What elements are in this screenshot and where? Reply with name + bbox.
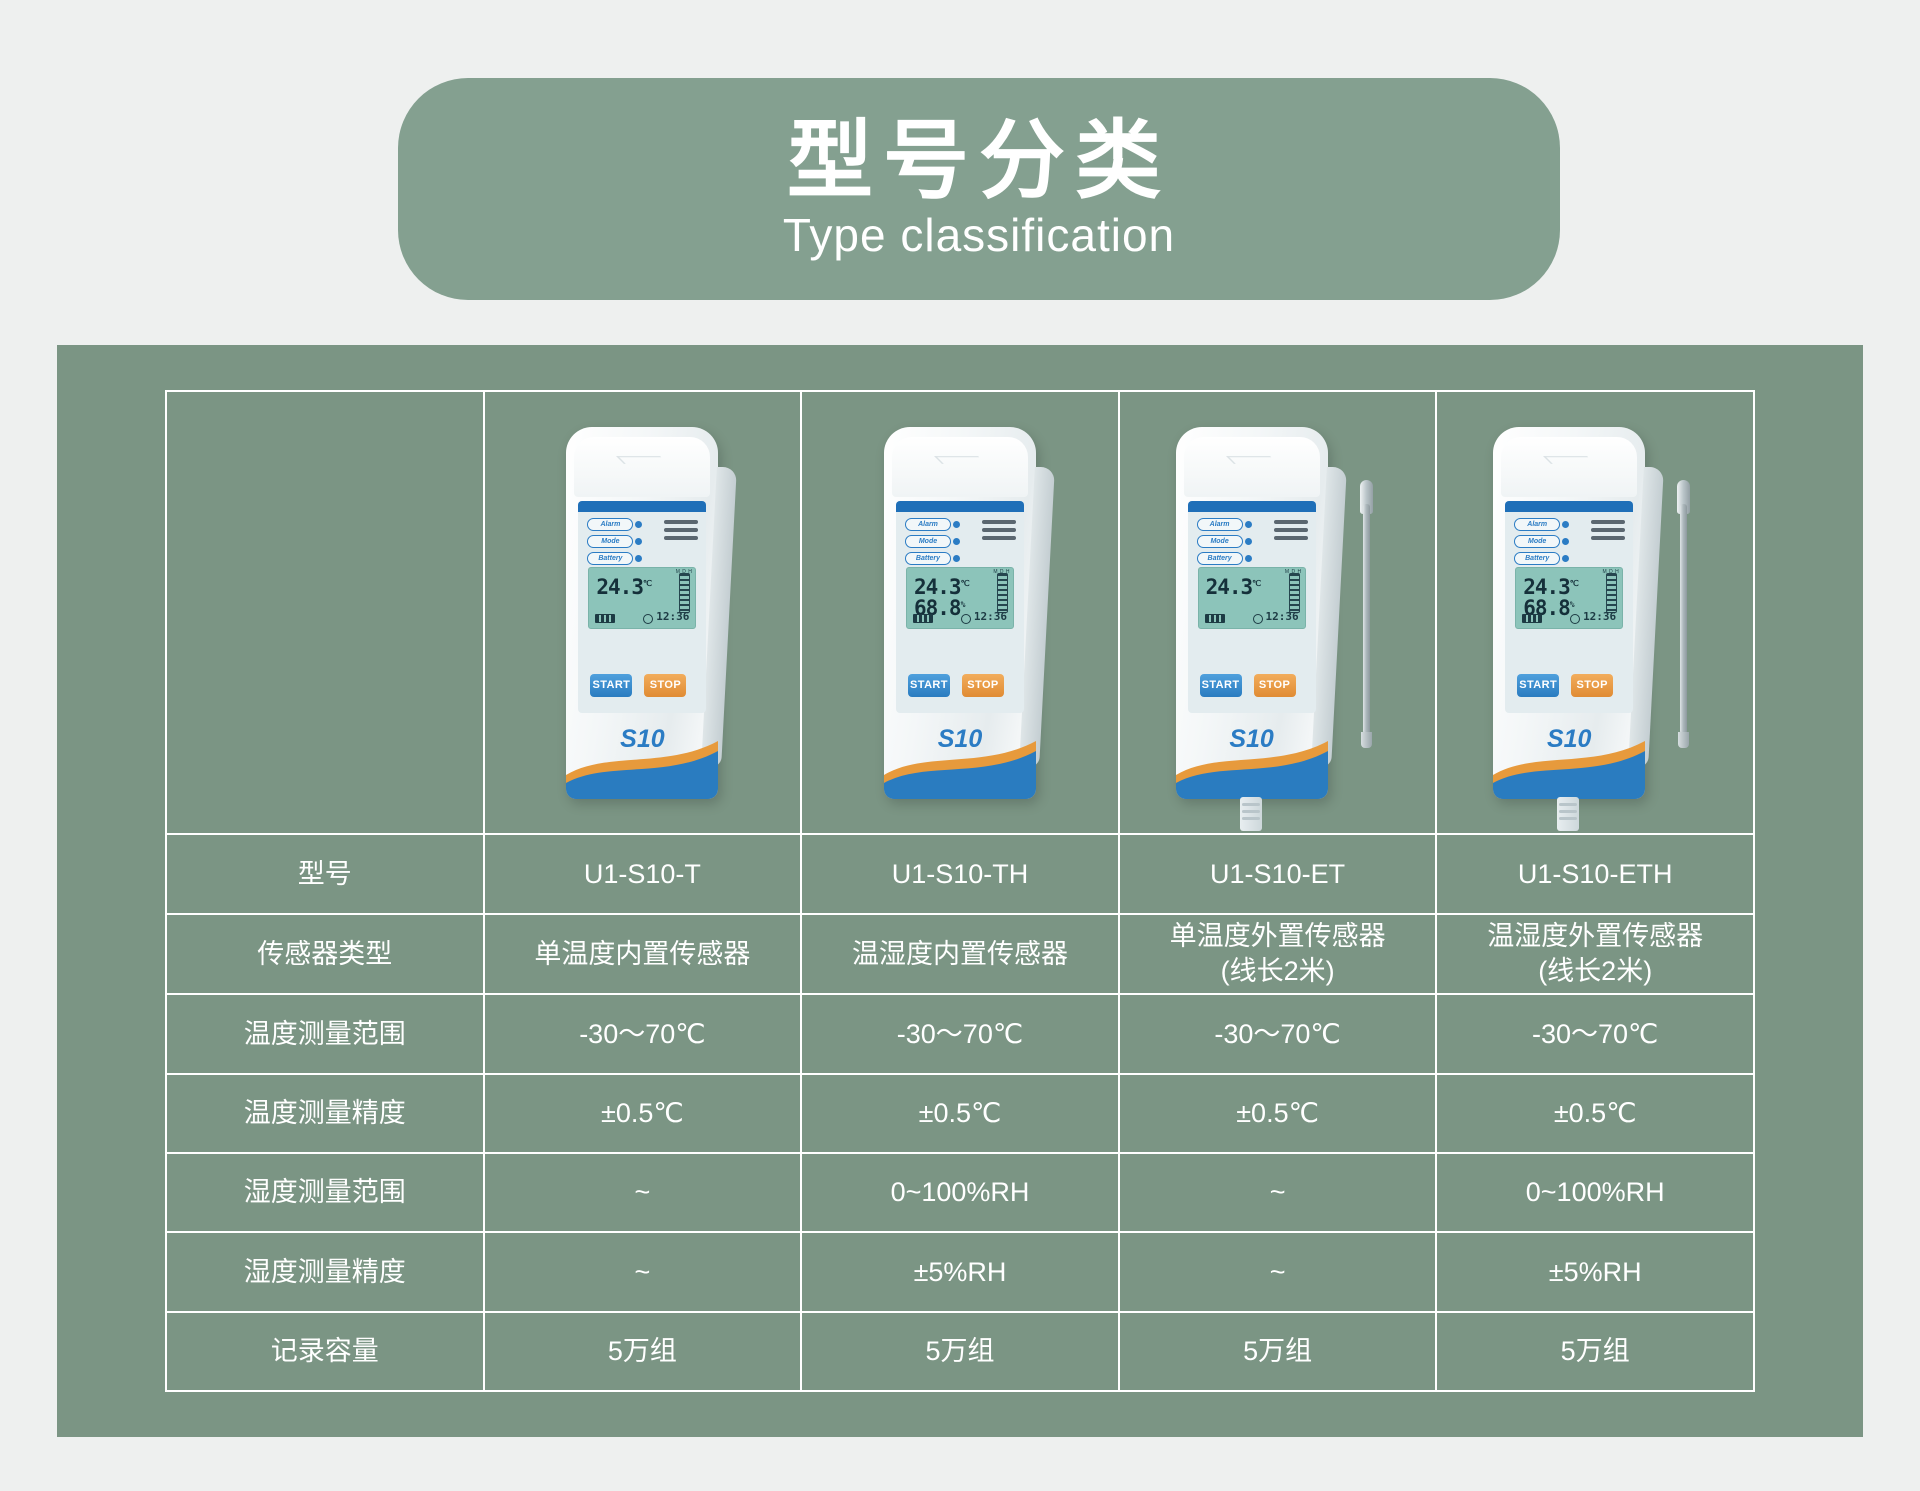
lcd-clock-value: 12:36 xyxy=(1583,610,1616,624)
external-temperature-probe xyxy=(1671,478,1697,748)
indicator-mode: Mode xyxy=(1514,535,1560,548)
probe-stem xyxy=(1680,504,1687,734)
lcd-clock-value: 12:36 xyxy=(1265,610,1298,624)
lcd-temperature-reading: 24.3℃ xyxy=(1206,574,1261,601)
page-root: 型号分类 Type classification xyxy=(0,0,1920,1491)
cell-hum-accuracy-0: ~ xyxy=(484,1232,802,1311)
lcd-temp-unit: ℃ xyxy=(1570,579,1578,588)
device-button-row: START STOP xyxy=(1517,674,1613,697)
cell-capacity-1: 5万组 xyxy=(801,1312,1119,1391)
cell-temp-accuracy-1: ±0.5℃ xyxy=(801,1074,1119,1153)
connector-plug xyxy=(1240,797,1262,831)
start-button[interactable]: START xyxy=(590,674,632,697)
speaker-vent-icon xyxy=(1274,520,1308,544)
probe-foot xyxy=(1678,732,1689,748)
device-cell-3: Alarm Mode Battery xyxy=(1436,391,1754,834)
header-banner: 型号分类 Type classification xyxy=(398,78,1560,300)
lcd-clock-value: 12:36 xyxy=(656,610,689,624)
indicator-mode: Mode xyxy=(1197,535,1243,548)
device-bottom-wave xyxy=(1493,723,1645,799)
indicator-label-battery: Battery xyxy=(1197,552,1243,565)
battery-led-icon xyxy=(1245,555,1252,562)
device-bottom-wave xyxy=(884,723,1036,799)
device-illustration-0: Alarm Mode Battery xyxy=(485,392,801,833)
lcd-temp-value: 24.3 xyxy=(596,575,643,599)
cell-temp-accuracy-0: ±0.5℃ xyxy=(484,1074,802,1153)
corner-cell xyxy=(166,391,484,834)
indicator-alarm: Alarm xyxy=(905,518,951,531)
cell-temp-accuracy-3: ±0.5℃ xyxy=(1436,1074,1754,1153)
clock-icon xyxy=(961,614,971,624)
connector-plug xyxy=(1557,797,1579,831)
device-illustration-3: Alarm Mode Battery xyxy=(1437,392,1753,833)
cell-capacity-0: 5万组 xyxy=(484,1312,802,1391)
start-button[interactable]: START xyxy=(908,674,950,697)
device-top-cap xyxy=(1501,437,1637,497)
lcd-temp-unit: ℃ xyxy=(1252,579,1260,588)
device-cell-2: Alarm Mode Battery xyxy=(1119,391,1437,834)
datalogger-device: Alarm Mode Battery xyxy=(884,427,1036,799)
device-face-panel: Alarm Mode Battery xyxy=(896,501,1024,713)
lcd-battery-icon xyxy=(595,614,615,623)
indicator-mode: Mode xyxy=(587,535,633,548)
indicator-label-alarm: Alarm xyxy=(905,518,951,531)
indicator-pill-group: Alarm Mode Battery xyxy=(905,518,951,569)
cell-capacity-2: 5万组 xyxy=(1119,1312,1437,1391)
device-bottom-wave xyxy=(1176,723,1328,799)
indicator-label-alarm: Alarm xyxy=(1197,518,1243,531)
lcd-display: M D H 24.3℃ 68.8% 12:36 xyxy=(906,567,1014,629)
cell-sensor-type-3: 温湿度外置传感器(线长2米) xyxy=(1436,914,1754,994)
indicator-alarm: Alarm xyxy=(1197,518,1243,531)
speaker-vent-icon xyxy=(982,520,1016,544)
cell-hum-range-0: ~ xyxy=(484,1153,802,1232)
stop-button[interactable]: STOP xyxy=(644,674,686,697)
device-face-header-strip xyxy=(896,501,1024,512)
indicator-label-battery: Battery xyxy=(587,552,633,565)
device-illustration-2: Alarm Mode Battery xyxy=(1120,392,1436,833)
indicator-label-mode: Mode xyxy=(1197,535,1243,548)
speaker-vent-icon xyxy=(1591,520,1625,544)
mode-led-icon xyxy=(635,538,642,545)
table-row-capacity: 记录容量 5万组 5万组 5万组 5万组 xyxy=(166,1312,1754,1391)
probe-stem xyxy=(1363,504,1370,734)
table-row-model: 型号 U1-S10-T U1-S10-TH U1-S10-ET U1-S10-E… xyxy=(166,834,1754,913)
cell-hum-range-3: 0~100%RH xyxy=(1436,1153,1754,1232)
indicator-alarm: Alarm xyxy=(1514,518,1560,531)
mode-led-icon xyxy=(1562,538,1569,545)
table-row-temp-range: 温度测量范围 -30～70℃ -30～70℃ -30～70℃ -30～70℃ xyxy=(166,994,1754,1073)
indicator-battery: Battery xyxy=(1514,552,1560,565)
indicator-mode: Mode xyxy=(905,535,951,548)
lcd-temp-unit: ℃ xyxy=(961,579,969,588)
device-button-row: START STOP xyxy=(1200,674,1296,697)
alarm-led-icon xyxy=(1562,521,1569,528)
cell-temp-range-1: -30～70℃ xyxy=(801,994,1119,1073)
indicator-label-battery: Battery xyxy=(1514,552,1560,565)
clock-icon xyxy=(1570,614,1580,624)
table-row-hum-accuracy: 湿度测量精度 ~ ±5%RH ~ ±5%RH xyxy=(166,1232,1754,1311)
lcd-temp-value: 24.3 xyxy=(1206,575,1253,599)
chevron-up-icon xyxy=(1543,456,1595,464)
clock-icon xyxy=(643,614,653,624)
cell-hum-accuracy-3: ±5%RH xyxy=(1436,1232,1754,1311)
chevron-up-icon xyxy=(617,456,669,464)
device-bottom-wave xyxy=(566,723,718,799)
probe-cable-connector xyxy=(1240,797,1262,845)
device-button-row: START STOP xyxy=(590,674,686,697)
indicator-label-mode: Mode xyxy=(1514,535,1560,548)
stop-button[interactable]: STOP xyxy=(1571,674,1613,697)
chevron-up-icon xyxy=(934,456,986,464)
indicator-pill-group: Alarm Mode Battery xyxy=(1197,518,1243,569)
device-cell-0: Alarm Mode Battery xyxy=(484,391,802,834)
alarm-led-icon xyxy=(953,521,960,528)
probe-cable-connector xyxy=(1557,797,1579,845)
cell-model-2: U1-S10-ET xyxy=(1119,834,1437,913)
table-row-device-images: Alarm Mode Battery xyxy=(166,391,1754,834)
cell-hum-range-2: ~ xyxy=(1119,1153,1437,1232)
row-label-sensor-type: 传感器类型 xyxy=(166,914,484,994)
table-row-hum-range: 湿度测量范围 ~ 0~100%RH ~ 0~100%RH xyxy=(166,1153,1754,1232)
indicator-battery: Battery xyxy=(1197,552,1243,565)
battery-led-icon xyxy=(1562,555,1569,562)
device-button-row: START STOP xyxy=(908,674,1004,697)
indicator-pill-group: Alarm Mode Battery xyxy=(587,518,633,569)
datalogger-device: Alarm Mode Battery xyxy=(1176,427,1328,799)
cell-hum-accuracy-1: ±5%RH xyxy=(801,1232,1119,1311)
indicator-label-alarm: Alarm xyxy=(587,518,633,531)
indicator-label-alarm: Alarm xyxy=(1514,518,1560,531)
lcd-level-bar-icon xyxy=(1606,573,1617,613)
device-face-header-strip xyxy=(1188,501,1316,512)
cell-temp-range-2: -30～70℃ xyxy=(1119,994,1437,1073)
speaker-vent-icon xyxy=(664,520,698,544)
device-cell-1: Alarm Mode Battery xyxy=(801,391,1119,834)
indicator-pill-group: Alarm Mode Battery xyxy=(1514,518,1560,569)
row-label-capacity: 记录容量 xyxy=(166,1312,484,1391)
indicator-alarm: Alarm xyxy=(587,518,633,531)
row-label-model: 型号 xyxy=(166,834,484,913)
lcd-clock-value: 12:36 xyxy=(974,610,1007,624)
lcd-battery-icon xyxy=(1522,614,1542,623)
cell-model-0: U1-S10-T xyxy=(484,834,802,913)
device-top-cap xyxy=(1184,437,1320,497)
spec-panel: Alarm Mode Battery xyxy=(57,345,1863,1437)
lcd-level-bar-icon xyxy=(1289,573,1300,613)
row-label-temp-range: 温度测量范围 xyxy=(166,994,484,1073)
device-illustration-1: Alarm Mode Battery xyxy=(802,392,1118,833)
lcd-display: M D H 24.3℃ 12:36 xyxy=(1198,567,1306,629)
cell-model-3: U1-S10-ETH xyxy=(1436,834,1754,913)
stop-button[interactable]: STOP xyxy=(962,674,1004,697)
device-face-header-strip xyxy=(578,501,706,512)
start-button[interactable]: START xyxy=(1517,674,1559,697)
cell-hum-accuracy-2: ~ xyxy=(1119,1232,1437,1311)
mode-led-icon xyxy=(953,538,960,545)
lcd-display: M D H 24.3℃ 68.8% 12:36 xyxy=(1515,567,1623,629)
indicator-battery: Battery xyxy=(905,552,951,565)
cell-model-1: U1-S10-TH xyxy=(801,834,1119,913)
lcd-temperature-reading: 24.3℃ xyxy=(596,574,651,601)
device-face-panel: Alarm Mode Battery xyxy=(1505,501,1633,713)
device-face-panel: Alarm Mode Battery xyxy=(1188,501,1316,713)
battery-led-icon xyxy=(953,555,960,562)
cell-temp-accuracy-2: ±0.5℃ xyxy=(1119,1074,1437,1153)
mode-led-icon xyxy=(1245,538,1252,545)
device-top-cap xyxy=(892,437,1028,497)
cell-temp-range-3: -30～70℃ xyxy=(1436,994,1754,1073)
cell-sensor-type-2: 单温度外置传感器(线长2米) xyxy=(1119,914,1437,994)
lcd-battery-icon xyxy=(913,614,933,623)
cell-hum-range-1: 0~100%RH xyxy=(801,1153,1119,1232)
table-row-sensor-type: 传感器类型 单温度内置传感器 温湿度内置传感器 单温度外置传感器(线长2米) 温… xyxy=(166,914,1754,994)
lcd-hum-unit: % xyxy=(961,600,965,609)
indicator-label-mode: Mode xyxy=(587,535,633,548)
probe-foot xyxy=(1361,732,1372,748)
device-face-panel: Alarm Mode Battery xyxy=(578,501,706,713)
device-face-header-strip xyxy=(1505,501,1633,512)
start-button[interactable]: START xyxy=(1200,674,1242,697)
stop-button[interactable]: STOP xyxy=(1254,674,1296,697)
lcd-level-bar-icon xyxy=(679,573,690,613)
alarm-led-icon xyxy=(635,521,642,528)
indicator-label-battery: Battery xyxy=(905,552,951,565)
lcd-battery-icon xyxy=(1205,614,1225,623)
cell-temp-range-0: -30～70℃ xyxy=(484,994,802,1073)
alarm-led-icon xyxy=(1245,521,1252,528)
lcd-display: M D H 24.3℃ 12:36 xyxy=(588,567,696,629)
chevron-up-icon xyxy=(1226,456,1278,464)
row-label-hum-accuracy: 湿度测量精度 xyxy=(166,1232,484,1311)
datalogger-device: Alarm Mode Battery xyxy=(1493,427,1645,799)
external-temperature-probe xyxy=(1354,478,1380,748)
lcd-level-bar-icon xyxy=(997,573,1008,613)
indicator-battery: Battery xyxy=(587,552,633,565)
specification-table: Alarm Mode Battery xyxy=(165,390,1755,1392)
clock-icon xyxy=(1253,614,1263,624)
row-label-hum-range: 湿度测量范围 xyxy=(166,1153,484,1232)
cell-sensor-type-0: 单温度内置传感器 xyxy=(484,914,802,994)
battery-led-icon xyxy=(635,555,642,562)
device-top-cap xyxy=(574,437,710,497)
datalogger-device: Alarm Mode Battery xyxy=(566,427,718,799)
page-subtitle: Type classification xyxy=(783,208,1175,262)
page-title: 型号分类 xyxy=(787,116,1171,206)
row-label-temp-accuracy: 温度测量精度 xyxy=(166,1074,484,1153)
indicator-label-mode: Mode xyxy=(905,535,951,548)
table-row-temp-accuracy: 温度测量精度 ±0.5℃ ±0.5℃ ±0.5℃ ±0.5℃ xyxy=(166,1074,1754,1153)
cell-capacity-3: 5万组 xyxy=(1436,1312,1754,1391)
lcd-hum-unit: % xyxy=(1570,600,1574,609)
lcd-temp-unit: ℃ xyxy=(643,579,651,588)
cell-sensor-type-1: 温湿度内置传感器 xyxy=(801,914,1119,994)
